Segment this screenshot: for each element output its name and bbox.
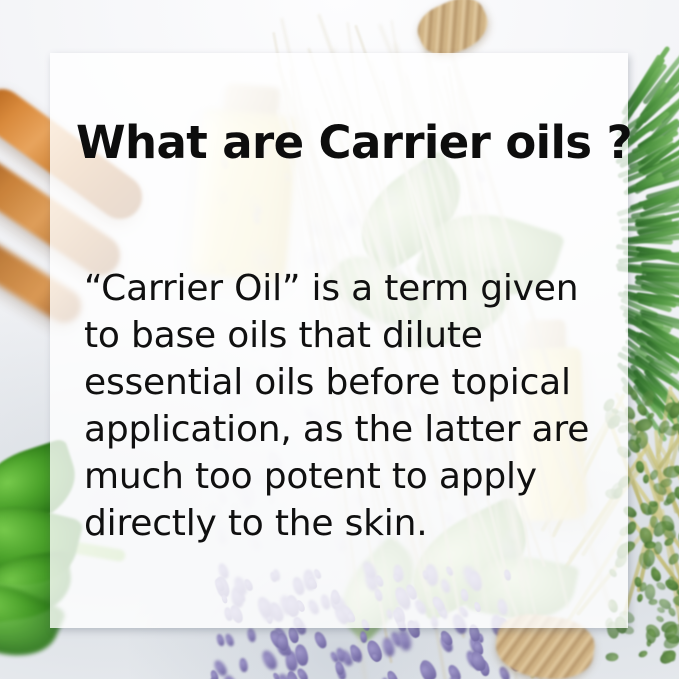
- body-line: essential oils before topical: [84, 359, 618, 406]
- text-layer: What are Carrier oils ? “Carrier Oil” is…: [50, 53, 628, 628]
- thyme-leaf: [638, 649, 649, 658]
- thyme-leaf: [649, 567, 663, 583]
- body-line: to base oils that dilute: [84, 312, 618, 359]
- lavender-bud: [259, 649, 279, 673]
- lavender-bud: [312, 630, 328, 650]
- lavender-bud: [239, 657, 249, 672]
- infographic-image: What are Carrier oils ? “Carrier Oil” is…: [0, 0, 679, 679]
- lavender-bud: [246, 628, 257, 643]
- body-line: application, as the latter are: [84, 406, 618, 453]
- thyme-leaf: [654, 542, 663, 555]
- lavender-bud: [360, 630, 368, 643]
- thyme-leaf: [657, 647, 678, 666]
- body-line: directly to the skin.: [84, 500, 618, 547]
- body-line: “Carrier Oil” is a term given: [84, 265, 618, 312]
- thyme-leaf: [644, 584, 655, 600]
- thyme-leaf: [605, 652, 618, 661]
- body-copy: “Carrier Oil” is a term given to base oi…: [84, 265, 618, 547]
- lavender-bud: [215, 633, 225, 647]
- lavender-bud: [224, 633, 236, 648]
- body-line: much too potent to apply: [84, 453, 618, 500]
- thyme-leaf: [647, 411, 656, 420]
- lavender-bud: [385, 670, 399, 679]
- page-title: What are Carrier oils ?: [76, 116, 632, 169]
- thyme-leaf: [630, 389, 639, 401]
- thyme-leaf: [636, 594, 643, 603]
